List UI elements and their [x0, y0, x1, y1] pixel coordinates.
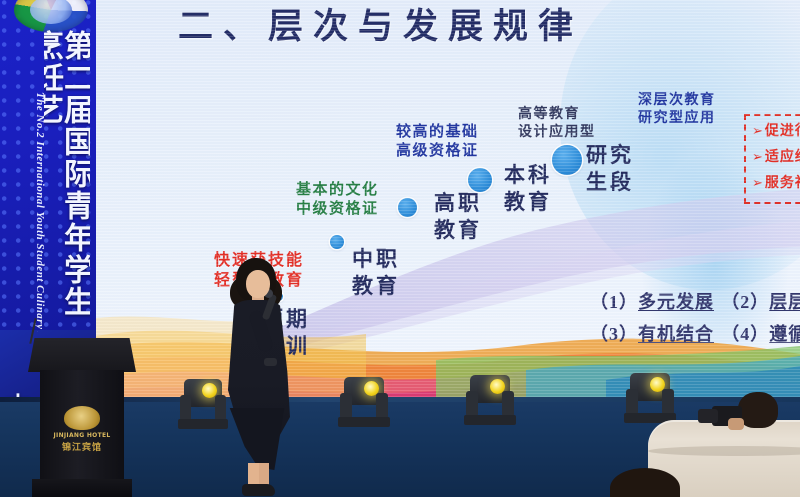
caption-higher-line1: 高等教育: [518, 106, 596, 124]
light-yoke-left: [626, 389, 637, 415]
light-yoke-left: [180, 395, 191, 421]
camera-lens-icon: [698, 409, 718, 423]
caption-blue: 较高的基础 高级资格证: [396, 122, 479, 160]
point-3-number: （3）: [590, 324, 638, 344]
point-4-text: 遵循规: [769, 324, 800, 345]
point-2-number: （2）: [721, 292, 769, 312]
stage-dot-3: [398, 198, 417, 217]
light-yoke-left: [466, 391, 477, 417]
speaker-presenter: [210, 258, 302, 497]
caption-higher-line2: 设计应用型: [518, 124, 596, 142]
light-yoke-right: [376, 393, 387, 419]
stage-label-vocational-higher: 高职 教育: [434, 190, 482, 244]
arrow-bullet-icon: ➢: [752, 176, 764, 191]
point-1-text: 多元发展: [638, 292, 714, 313]
conference-stage-photo: 二、层次与发展规律 快速获技能 轻型化教育 基本的文化 中级资格证 较高的基础 …: [0, 0, 800, 497]
stage-label-2-line1: 中职: [352, 246, 400, 273]
moving-head-light-icon: [624, 361, 676, 423]
stage-label-graduate: 研究 生段: [586, 142, 634, 196]
photographer-with-camera-icon: [712, 392, 800, 444]
lectern-base: [32, 479, 132, 497]
photographer-hand: [728, 418, 744, 430]
arrow-bullet-icon: ➢: [752, 124, 764, 139]
hotel-brand-english: JINJIANG HOTEL: [50, 432, 114, 439]
banner-chinese-title: 第二届国际青年学生烹饪艺: [44, 30, 90, 330]
light-yoke-right: [662, 389, 673, 415]
numbered-row-2: （3）有机结合 （4）遵循规: [590, 320, 800, 346]
banner-english-title: The No.2 International Youth Student Cul…: [26, 92, 46, 332]
hotel-crest-icon: [64, 406, 100, 430]
speaker-clicker-hand: [264, 358, 277, 366]
callout-item-3: ➢服务社: [752, 172, 800, 192]
point-3-text: 有机结合: [638, 324, 714, 345]
caption-deep-line2: 研究型应用: [638, 110, 716, 128]
stage-dot-4: [468, 168, 492, 192]
photographer-head: [738, 392, 778, 428]
stage-label-2-line2: 教育: [352, 273, 400, 300]
stage-label-vocational-secondary: 中职 教育: [352, 246, 400, 300]
stage-label-3-line2: 教育: [434, 217, 482, 244]
stage-label-5-line1: 研究: [586, 142, 634, 169]
stage-label-undergraduate: 本科 教育: [504, 162, 552, 216]
caption-deep-line1: 深层次教育: [638, 92, 716, 110]
callout-item-3-text: 服务社: [765, 175, 800, 191]
callout-item-2: ➢适应经济: [752, 146, 800, 166]
point-1-number: （1）: [590, 292, 638, 312]
red-dashed-callout-box: ➢促进行业 ➢适应经济 ➢服务社: [744, 114, 800, 204]
speaker-face: [246, 270, 270, 298]
callout-item-2-text: 适应经济: [765, 149, 800, 165]
point-4-number: （4）: [721, 324, 769, 344]
caption-green-line1: 基本的文化: [296, 180, 379, 199]
moving-head-light-icon: [464, 363, 516, 425]
stage-label-4-line2: 教育: [504, 189, 552, 216]
stage-label-5-line2: 生段: [586, 169, 634, 196]
event-banner: 第二届国际青年学生烹饪艺 The No.2 International Yout…: [0, 0, 96, 330]
lectern-top: [28, 338, 136, 372]
stage-dot-5: [552, 145, 582, 175]
light-yoke-right: [502, 391, 513, 417]
light-base: [464, 415, 516, 425]
numbered-row-1: （1）多元发展 （2）层层递: [590, 288, 800, 314]
hotel-brand-chinese: 锦江宾馆: [50, 440, 114, 453]
stage-dot-2: [330, 235, 344, 249]
light-base: [338, 417, 390, 427]
speaker-shoe: [242, 484, 275, 496]
caption-deep-education: 深层次教育 研究型应用: [638, 92, 716, 128]
projection-screen: 二、层次与发展规律 快速获技能 轻型化教育 基本的文化 中级资格证 较高的基础 …: [96, 0, 800, 420]
stage-label-3-line1: 高职: [434, 190, 482, 217]
callout-item-1: ➢促进行业: [752, 120, 800, 140]
stage-label-4-line1: 本科: [504, 162, 552, 189]
caption-green-line2: 中级资格证: [296, 199, 379, 218]
speaker-skirt-hem: [226, 408, 288, 470]
arrow-bullet-icon: ➢: [752, 150, 764, 165]
light-yoke-left: [340, 393, 351, 419]
caption-green: 基本的文化 中级资格证: [296, 180, 379, 218]
callout-item-1-text: 促进行业: [765, 123, 800, 139]
slide-title: 二、层次与发展规律: [178, 0, 583, 49]
caption-blue-line2: 高级资格证: [396, 141, 479, 160]
point-2-text: 层层递: [769, 292, 800, 313]
caption-higher-education: 高等教育 设计应用型: [518, 106, 596, 142]
moving-head-light-icon: [338, 365, 390, 427]
event-emblem-icon: [14, 0, 88, 32]
caption-blue-line1: 较高的基础: [396, 122, 479, 141]
lectern: JINJIANG HOTEL 锦江宾馆: [28, 338, 136, 497]
